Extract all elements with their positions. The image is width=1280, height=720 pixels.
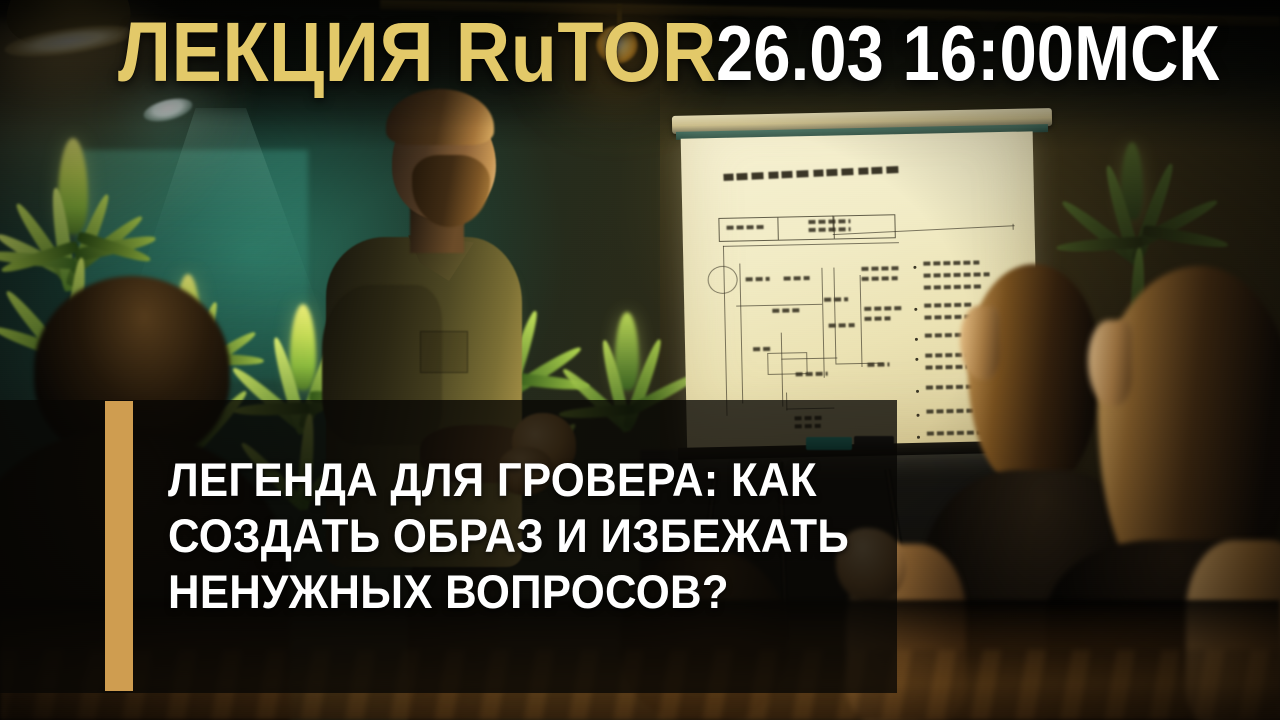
brand-title-text: ЛЕКЦИЯ RuTOR: [118, 5, 717, 99]
headline: ЛЕГЕНДА ДЛЯ ГРОВЕРА: КАК СОЗДАТЬ ОБРАЗ И…: [168, 452, 819, 620]
headline-line-2: СОЗДАТЬ ОБРАЗ И ИЗБЕЖАТЬ: [168, 508, 819, 564]
event-datetime: 26.03 16:00МСК: [716, 14, 1219, 92]
event-datetime-text: 26.03 16:00МСК: [716, 9, 1219, 97]
headline-line-3: НЕНУЖНЫХ ВОПРОСОВ?: [168, 564, 819, 620]
brand-title: ЛЕКЦИЯ RuTOR: [118, 10, 717, 94]
headline-line-1: ЛЕГЕНДА ДЛЯ ГРОВЕРА: КАК: [168, 452, 819, 508]
lecture-announcement-poster: ЛЕКЦИЯ RuTOR 26.03 16:00МСК ЛЕГЕНДА ДЛЯ …: [0, 0, 1280, 720]
gold-accent-bar: [105, 401, 133, 691]
